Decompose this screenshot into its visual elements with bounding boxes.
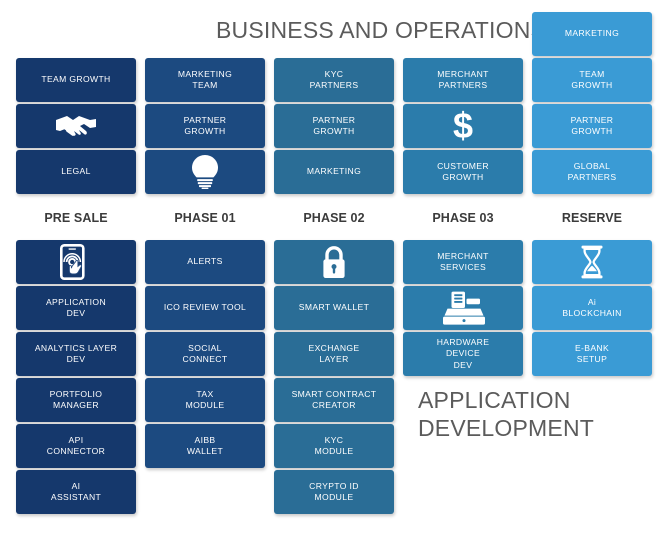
card-label: ICO REVIEW TOOL xyxy=(160,302,250,313)
card-global-partners[interactable]: GLOBAL PARTNERS xyxy=(532,150,652,194)
card-label: TEAM GROWTH xyxy=(37,74,114,85)
card-smart-contract-creator[interactable]: SMART CONTRACT CREATOR xyxy=(274,378,394,422)
card-label: LEGAL xyxy=(57,166,94,177)
card-label: GLOBAL PARTNERS xyxy=(564,161,621,184)
card-marketing[interactable]: MARKETING xyxy=(274,150,394,194)
application-development-section-title: APPLICATION DEVELOPMENT xyxy=(418,386,594,442)
card-e-bank-setup[interactable]: E-BANK SETUP xyxy=(532,332,652,376)
card-merchant-services[interactable]: MERCHANT SERVICES xyxy=(403,240,523,284)
card-label: Ai BLOCKCHAIN xyxy=(558,297,625,320)
card-lightbulb-icon[interactable] xyxy=(145,150,265,194)
card-marketing-team[interactable]: MARKETING TEAM xyxy=(145,58,265,102)
card-label: MERCHANT PARTNERS xyxy=(433,69,493,92)
card-label: AI ASSISTANT xyxy=(47,481,105,504)
handshake-icon xyxy=(53,113,99,139)
card-application-dev[interactable]: APPLICATION DEV xyxy=(16,286,136,330)
svg-text:$: $ xyxy=(453,109,473,143)
card-label: KYC PARTNERS xyxy=(306,69,363,92)
card-crypto-id-module[interactable]: CRYPTO ID MODULE xyxy=(274,470,394,514)
card-team-growth[interactable]: TEAM GROWTH xyxy=(532,58,652,102)
card-label: E-BANK SETUP xyxy=(571,343,613,366)
phase-label-pre-sale: PRE SALE xyxy=(16,211,136,225)
card-label: MARKETING xyxy=(561,28,623,39)
card-label: CUSTOMER GROWTH xyxy=(433,161,493,184)
card-api-connector[interactable]: API CONNECTOR xyxy=(16,424,136,468)
card-aibb-wallet[interactable]: AIBB WALLET xyxy=(145,424,265,468)
card-label: TEAM GROWTH xyxy=(567,69,616,92)
card-label: MARKETING TEAM xyxy=(174,69,236,92)
card-social-connect[interactable]: SOCIAL CONNECT xyxy=(145,332,265,376)
card-smartphone-touch-icon[interactable] xyxy=(16,240,136,284)
card-label: PARTNER GROWTH xyxy=(567,115,618,138)
card-ai-blockchain[interactable]: Ai BLOCKCHAIN xyxy=(532,286,652,330)
card-label: PARTNER GROWTH xyxy=(309,115,360,138)
card-dollar-icon[interactable]: $ xyxy=(403,104,523,148)
card-analytics-layer-dev[interactable]: ANALYTICS LAYER DEV xyxy=(16,332,136,376)
card-hardware-device-dev[interactable]: HARDWARE DEVICE DEV xyxy=(403,332,523,376)
card-partner-growth[interactable]: PARTNER GROWTH xyxy=(274,104,394,148)
card-label: API CONNECTOR xyxy=(43,435,109,458)
card-label: APPLICATION DEV xyxy=(42,297,110,320)
phase-label-phase-03: PHASE 03 xyxy=(403,211,523,225)
card-label: EXCHANGE LAYER xyxy=(304,343,363,366)
card-label: MARKETING xyxy=(303,166,365,177)
card-kyc-partners[interactable]: KYC PARTNERS xyxy=(274,58,394,102)
smartphone-touch-icon xyxy=(60,244,92,280)
card-label: MERCHANT SERVICES xyxy=(433,251,493,274)
card-label: ALERTS xyxy=(183,256,226,267)
phase-label-phase-01: PHASE 01 xyxy=(145,211,265,225)
infographic-root: BUSINESS AND OPERATIONS APPLICATION DEVE… xyxy=(0,0,668,533)
card-exchange-layer[interactable]: EXCHANGE LAYER xyxy=(274,332,394,376)
card-ai-assistant[interactable]: AI ASSISTANT xyxy=(16,470,136,514)
phase-label-reserve: RESERVE xyxy=(532,211,652,225)
card-legal[interactable]: LEGAL xyxy=(16,150,136,194)
card-label: CRYPTO ID MODULE xyxy=(305,481,363,504)
card-label: KYC MODULE xyxy=(311,435,358,458)
card-label: PORTFOLIO MANAGER xyxy=(46,389,107,412)
card-kyc-module[interactable]: KYC MODULE xyxy=(274,424,394,468)
hourglass-icon xyxy=(580,245,604,279)
card-label: SOCIAL CONNECT xyxy=(179,343,232,366)
card-lock-icon[interactable] xyxy=(274,240,394,284)
card-label: SMART WALLET xyxy=(295,302,373,313)
card-portfolio-manager[interactable]: PORTFOLIO MANAGER xyxy=(16,378,136,422)
lock-icon xyxy=(321,245,347,279)
card-label: SMART CONTRACT CREATOR xyxy=(288,389,381,412)
card-tax-module[interactable]: TAX MODULE xyxy=(145,378,265,422)
cash-register-icon xyxy=(440,291,486,325)
card-label: ANALYTICS LAYER DEV xyxy=(31,343,121,366)
card-ico-review-tool[interactable]: ICO REVIEW TOOL xyxy=(145,286,265,330)
card-team-growth[interactable]: TEAM GROWTH xyxy=(16,58,136,102)
business-section-title: BUSINESS AND OPERATIONS xyxy=(216,16,546,44)
card-partner-growth[interactable]: PARTNER GROWTH xyxy=(532,104,652,148)
card-merchant-partners[interactable]: MERCHANT PARTNERS xyxy=(403,58,523,102)
card-marketing[interactable]: MARKETING xyxy=(532,12,652,56)
card-label: PARTNER GROWTH xyxy=(180,115,231,138)
lightbulb-icon xyxy=(192,155,218,189)
card-label: TAX MODULE xyxy=(182,389,229,412)
card-cash-register-icon[interactable] xyxy=(403,286,523,330)
card-customer-growth[interactable]: CUSTOMER GROWTH xyxy=(403,150,523,194)
card-smart-wallet[interactable]: SMART WALLET xyxy=(274,286,394,330)
dollar-icon: $ xyxy=(452,109,474,143)
card-label: AIBB WALLET xyxy=(183,435,227,458)
card-alerts[interactable]: ALERTS xyxy=(145,240,265,284)
card-hourglass-icon[interactable] xyxy=(532,240,652,284)
card-handshake-icon[interactable] xyxy=(16,104,136,148)
card-label: HARDWARE DEVICE DEV xyxy=(433,337,494,371)
card-partner-growth[interactable]: PARTNER GROWTH xyxy=(145,104,265,148)
phase-label-phase-02: PHASE 02 xyxy=(274,211,394,225)
